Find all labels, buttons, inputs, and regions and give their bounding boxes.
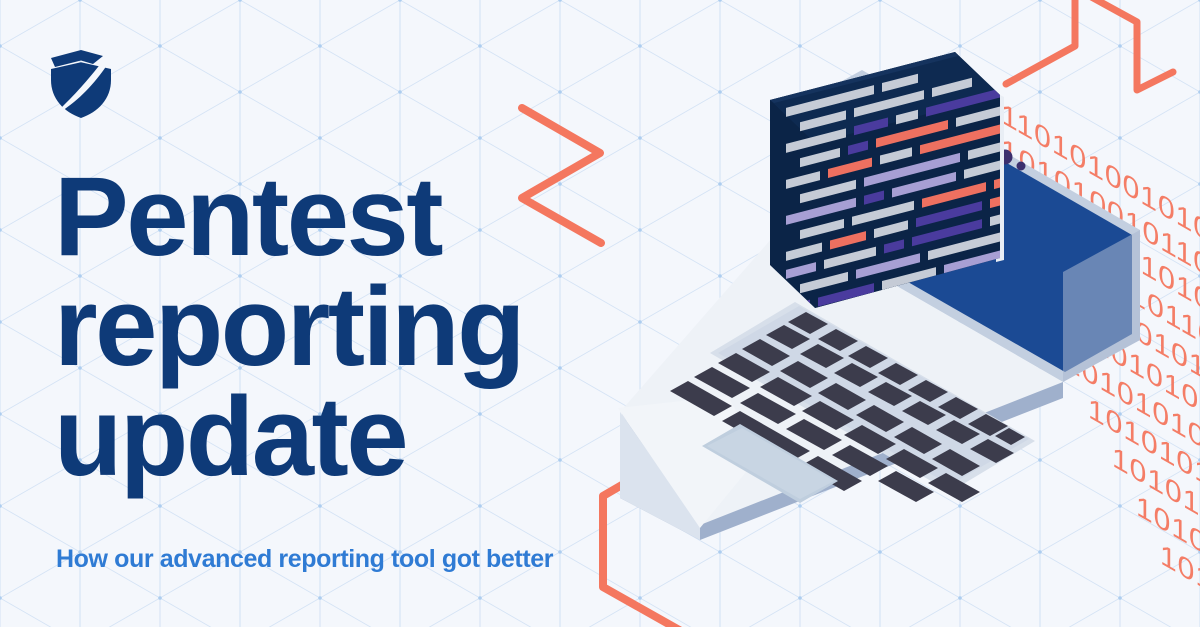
hero-headline: Pentest reporting update (54, 162, 614, 491)
laptop-screen (786, 70, 1140, 382)
svg-text:1010101010101010: 1010101010101010 (1160, 537, 1200, 627)
page-title: Pentest reporting update (54, 162, 614, 491)
code-lines (786, 9, 1170, 369)
hero-subtitle: How our advanced reporting tool got bett… (56, 545, 553, 574)
accent-polyline-bottom (603, 415, 742, 627)
svg-text:1010101010110101010101: 1010101010110101010101 (1012, 242, 1200, 498)
svg-text:10101010101010101: 10101010101010101 (1136, 488, 1200, 627)
svg-text:101010101010101010: 101010101010101010 (1112, 439, 1200, 627)
laptop-trackpad (702, 424, 838, 503)
svg-text:01010101001011010101010101: 01010101001011010101010101 (948, 100, 1200, 397)
svg-text:101010101011010101010101: 101010101011010101010101 (988, 193, 1200, 469)
code-editor-window (770, 9, 1170, 369)
laptop-keyboard (670, 302, 1035, 502)
accent-polyline-top-right (1006, 0, 1173, 90)
svg-text:10101010101010101010: 10101010101010101010 (1064, 341, 1200, 578)
laptop-base (618, 222, 1063, 540)
svg-text:1010101010101010101: 1010101010101010101 (1088, 390, 1200, 617)
binary-digits: 01011010100101010101010101 0101010100101… (948, 65, 1200, 627)
hero-banner: 01011010100101010101010101 0101010100101… (0, 0, 1200, 627)
svg-text:010101010101010101010: 010101010101010101010 (1040, 293, 1200, 540)
svg-text:0101101010101010101010101: 0101101010101010101010101 (966, 145, 1200, 432)
svg-text:01011010100101010101010101: 01011010100101010101010101 (948, 65, 1200, 362)
shield-swoosh-icon (48, 47, 114, 121)
